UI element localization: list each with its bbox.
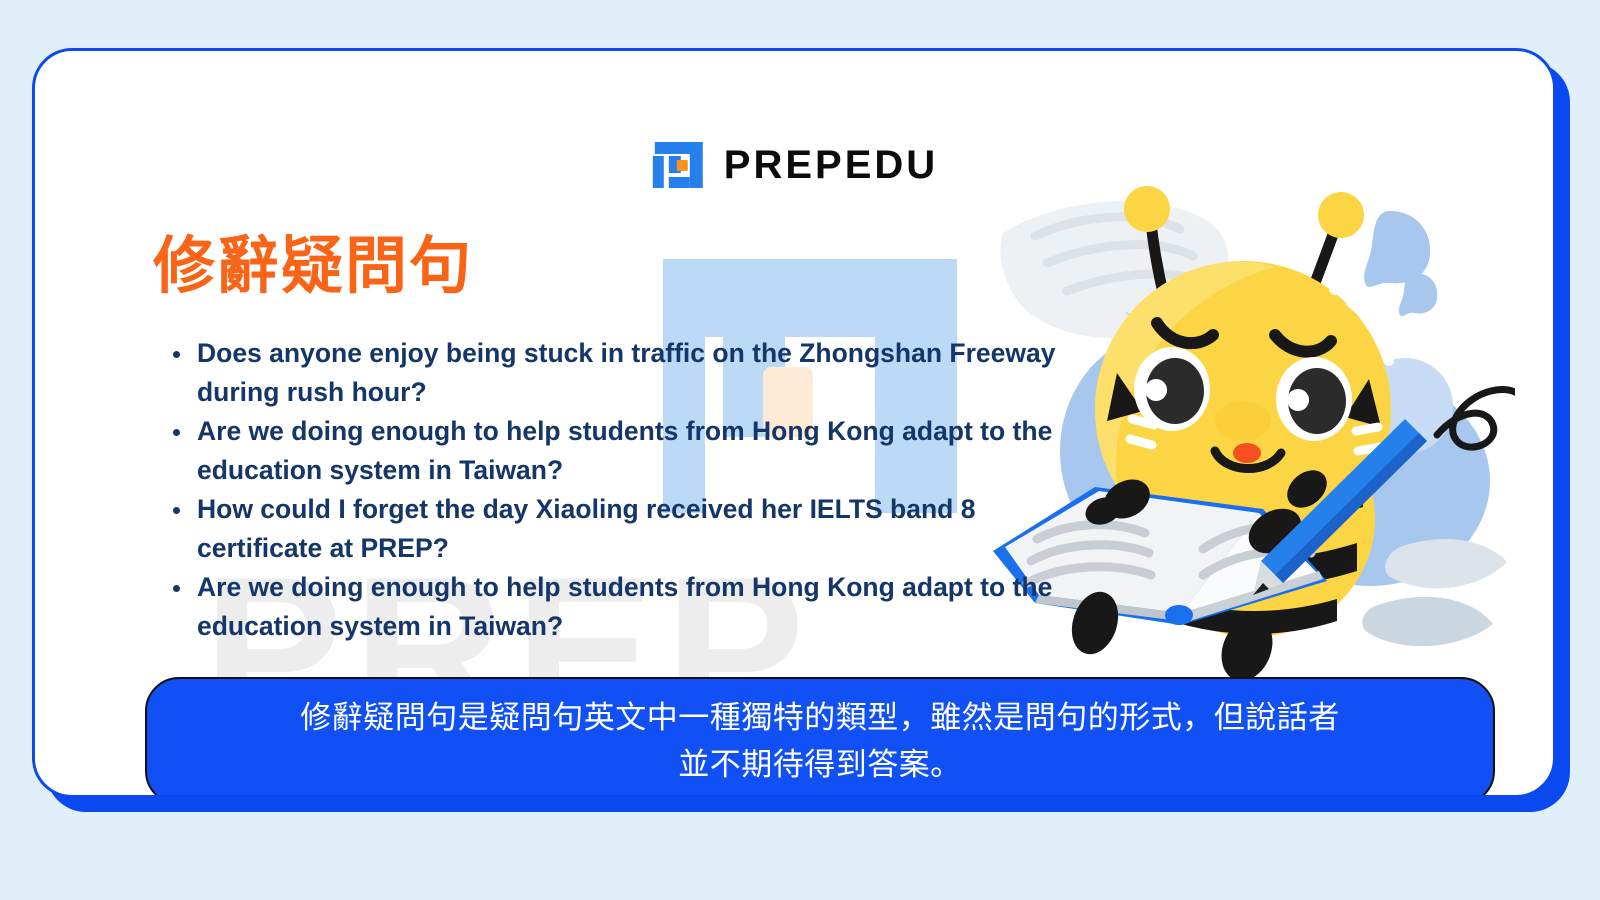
- page-title: 修辭疑問句: [153, 233, 473, 301]
- brand-logo: PREPEDU: [650, 139, 938, 191]
- definition-text: 修辭疑問句是疑問句英文中一種獨特的類型，雖然是問句的形式，但說話者並不期待得到答…: [300, 694, 1340, 788]
- content-card: PREP PREPEDU 修辭疑問句 Does anyone enjoy bei…: [32, 48, 1556, 798]
- list-item: Does anyone enjoy being stuck in traffic…: [167, 334, 1067, 412]
- prep-logo-mark-icon: [650, 139, 706, 191]
- definition-callout-box: 修辭疑問句是疑問句英文中一種獨特的類型，雖然是問句的形式，但說話者並不期待得到答…: [145, 677, 1495, 798]
- example-sentence-list: Does anyone enjoy being stuck in traffic…: [167, 334, 1067, 646]
- brand-wordmark: PREPEDU: [724, 145, 938, 185]
- list-item: Are we doing enough to help students fro…: [167, 568, 1067, 646]
- list-item: Are we doing enough to help students fro…: [167, 412, 1067, 490]
- list-item: How could I forget the day Xiaoling rece…: [167, 490, 1067, 568]
